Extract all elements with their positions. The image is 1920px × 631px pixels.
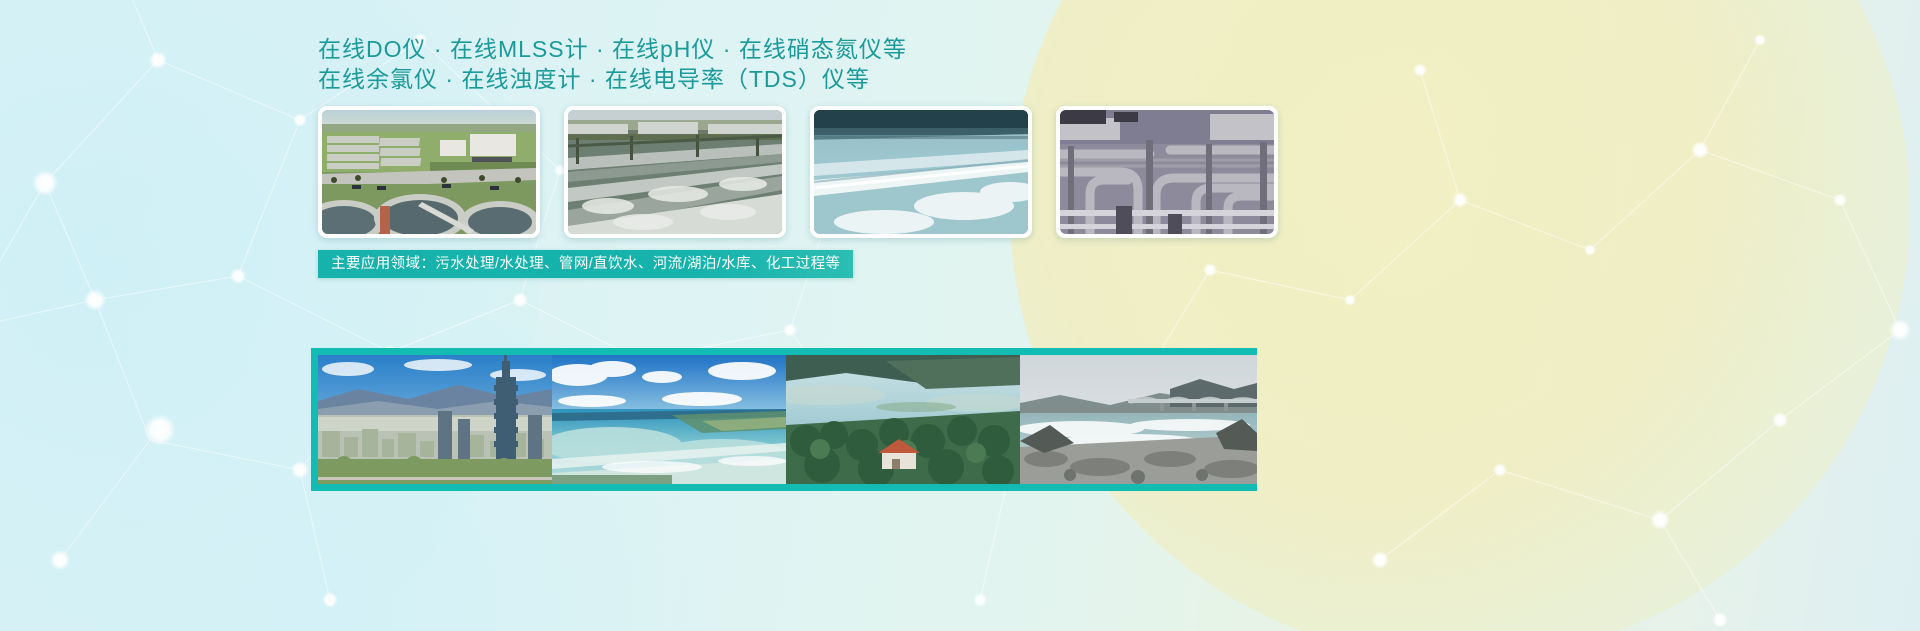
photo-coastal-bay-aerial[interactable]: [552, 355, 786, 484]
banner-stage: 在线DO仪 · 在线MLSS计 · 在线pH仪 · 在线硝态氮仪等 在线余氯仪 …: [0, 0, 1920, 631]
photo-rocky-shore-bridge[interactable]: [1020, 355, 1257, 484]
photo-water-channel-weir: [814, 110, 1028, 234]
photo-aeration-basin-walkway: [568, 110, 782, 234]
photo-wastewater-treatment-plant-aerial: [322, 110, 536, 234]
headline-line-2: 在线余氯仪 · 在线浊度计 · 在线电导率（TDS）仪等: [318, 64, 1078, 94]
photo-card-aeration-basin-walkway[interactable]: [564, 106, 786, 238]
landscape-photo-strip: [311, 348, 1257, 491]
headline-line-1: 在线DO仪 · 在线MLSS计 · 在线pH仪 · 在线硝态氮仪等: [318, 34, 1078, 64]
photo-chemical-process-piping: [1060, 110, 1274, 234]
landscape-photo-strip-inner: [318, 355, 1257, 484]
photo-card-water-channel-weir[interactable]: [810, 106, 1032, 238]
photo-city-skyline-tower[interactable]: [318, 355, 552, 484]
application-fields-caption: 主要应用领域：污水处理/水处理、管网/直饮水、河流/湖泊/水库、化工过程等: [318, 250, 853, 278]
photo-reservoir-island-aerial[interactable]: [786, 355, 1020, 484]
photo-card-wastewater-treatment-plant-aerial[interactable]: [318, 106, 540, 238]
headline-block: 在线DO仪 · 在线MLSS计 · 在线pH仪 · 在线硝态氮仪等 在线余氯仪 …: [318, 34, 1078, 94]
photo-card-row: [318, 106, 1278, 238]
photo-card-chemical-process-piping[interactable]: [1056, 106, 1278, 238]
network-pattern: [0, 0, 1920, 631]
